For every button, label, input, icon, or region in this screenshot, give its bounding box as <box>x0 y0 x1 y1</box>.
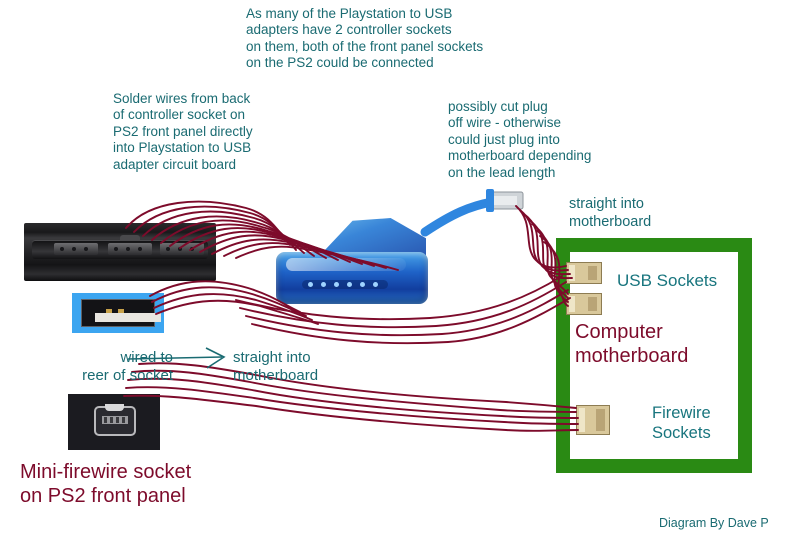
motherboard-firewire-header <box>576 405 610 435</box>
diagram-canvas: As many of the Playstation to USB adapte… <box>0 0 800 540</box>
note-straight-into-motherboard-mid: straight into motherboard <box>233 349 318 386</box>
note-solder-wires: Solder wires from back of controller soc… <box>113 91 253 173</box>
ps2-front-usb-socket-photo <box>72 293 164 333</box>
motherboard-usb-header-2 <box>566 293 602 315</box>
label-mini-firewire-socket: Mini-firewire socket on PS2 front panel <box>20 460 191 509</box>
ps2-front-panel-photo <box>24 223 216 281</box>
motherboard-usb-header-1 <box>566 262 602 284</box>
note-wired-to-rear-of-socket: wired to reer of socket <box>3 349 173 386</box>
label-usb-sockets: USB Sockets <box>617 271 717 292</box>
playstation-to-usb-adapter-photo <box>272 216 442 312</box>
mini-firewire-socket-photo <box>68 394 160 450</box>
label-firewire-sockets: Firewire Sockets <box>652 403 711 443</box>
note-cut-plug: possibly cut plug off wire - otherwise c… <box>448 99 591 181</box>
usb-plug <box>486 189 523 212</box>
note-straight-into-motherboard-top: straight into motherboard <box>569 196 651 231</box>
note-two-controller-sockets: As many of the Playstation to USB adapte… <box>246 6 483 72</box>
wires-firewire <box>124 363 578 431</box>
label-computer-motherboard: Computer motherboard <box>575 320 688 369</box>
credit-line: Diagram By Dave P <box>659 516 769 531</box>
